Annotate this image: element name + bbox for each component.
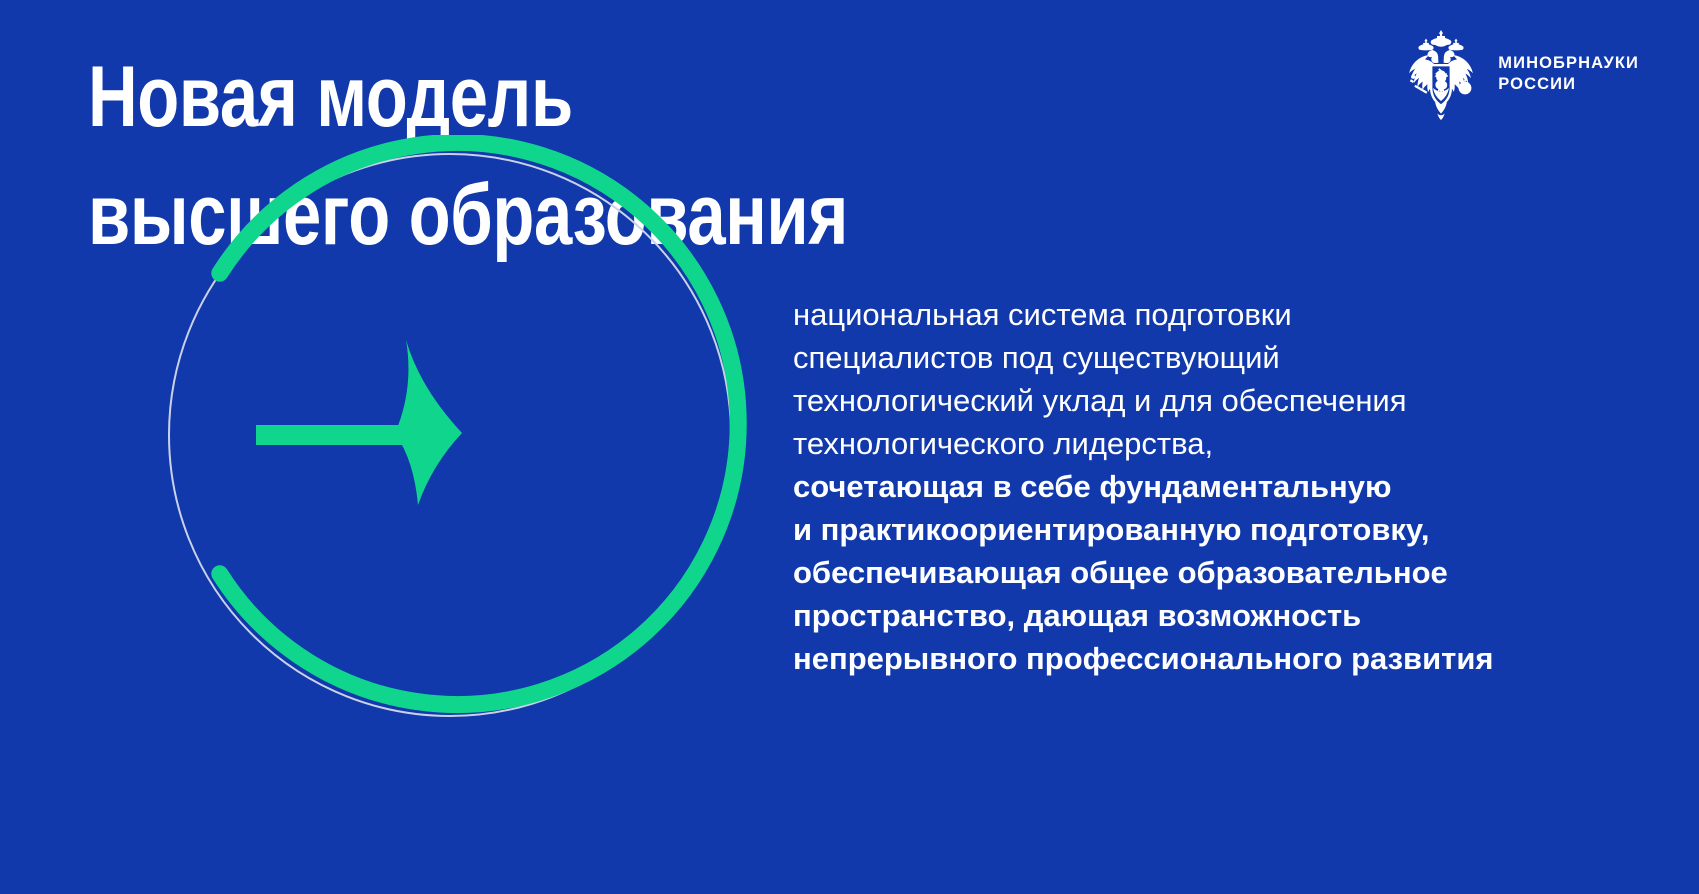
progress-ring-graphic bbox=[150, 135, 750, 735]
body-line: технологический уклад и для обеспечения bbox=[793, 379, 1483, 422]
green-right-arrow-icon bbox=[256, 340, 462, 505]
body-line: сочетающая в себе фундаментальную bbox=[793, 465, 1483, 508]
russian-coat-of-arms-icon bbox=[1402, 28, 1480, 120]
body-line: и практикоориентированную подготовку, bbox=[793, 508, 1483, 551]
wordmark-line-1: МИНОБРНАУКИ bbox=[1498, 53, 1639, 74]
ministry-logo: МИНОБРНАУКИ РОССИИ bbox=[1402, 28, 1639, 120]
body-line: обеспечивающая общее образовательное bbox=[793, 551, 1483, 594]
ministry-wordmark: МИНОБРНАУКИ РОССИИ bbox=[1498, 53, 1639, 95]
body-line: технологического лидерства, bbox=[793, 422, 1483, 465]
body-line: национальная система подготовки bbox=[793, 293, 1483, 336]
ring-progress-arc bbox=[220, 143, 738, 705]
body-line: непрерывного профессионального развития bbox=[793, 637, 1483, 680]
body-copy: национальная система подготовки специали… bbox=[793, 293, 1483, 680]
slide-canvas: Новая модель высшего образования bbox=[0, 0, 1699, 894]
body-line: специалистов под существующий bbox=[793, 336, 1483, 379]
body-line: пространство, дающая возможность bbox=[793, 594, 1483, 637]
wordmark-line-2: РОССИИ bbox=[1498, 74, 1639, 95]
